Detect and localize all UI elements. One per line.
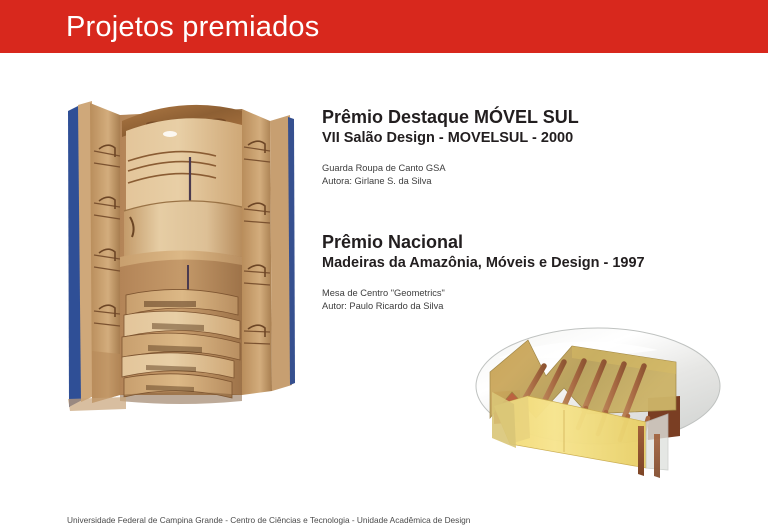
award-project-name: Mesa de Centro "Geometrics"	[322, 287, 645, 300]
footer-credit: Universidade Federal de Campina Grande -…	[67, 514, 470, 526]
award-title: Prêmio Nacional	[322, 231, 645, 253]
award-project-name: Guarda Roupa de Canto GSA	[322, 162, 579, 175]
award-subtitle: Madeiras da Amazônia, Móveis e Design - …	[322, 253, 645, 273]
award-author: Autor: Paulo Ricardo da Silva	[322, 300, 645, 313]
award-entry-2: Prêmio Nacional Madeiras da Amazônia, Mó…	[322, 231, 645, 313]
coffee-table-photo	[468, 318, 726, 482]
award-entry-1: Prêmio Destaque MÓVEL SUL VII Salão Desi…	[322, 106, 579, 188]
award-details: Guarda Roupa de Canto GSA Autora: Girlan…	[322, 162, 579, 188]
award-title: Prêmio Destaque MÓVEL SUL	[322, 106, 579, 128]
award-subtitle: VII Salão Design - MOVELSUL - 2000	[322, 128, 579, 148]
award-author: Autora: Girlane S. da Silva	[322, 175, 579, 188]
page-title: Projetos premiados	[66, 9, 319, 45]
wardrobe-photo	[66, 99, 296, 413]
award-details: Mesa de Centro "Geometrics" Autor: Paulo…	[322, 287, 645, 313]
